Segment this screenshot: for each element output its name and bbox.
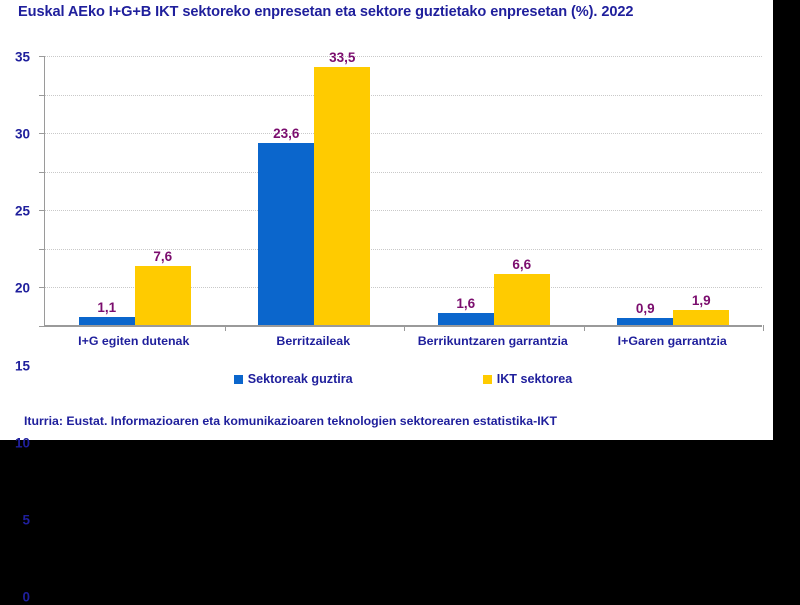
bar-value-label-0-1: 23,6 — [273, 126, 299, 141]
bar-value-label-1-0: 7,6 — [153, 249, 172, 264]
x-axis-category-label-0: I+G egiten dutenak — [44, 334, 224, 348]
x-axis-tick-2 — [584, 325, 585, 331]
bar-0-2[interactable]: 1,6 — [438, 313, 494, 325]
source-note: Iturria: Eustat. Informazioaren eta komu… — [24, 414, 557, 428]
y-axis-tick-15: 15 — [39, 210, 45, 211]
x-axis-tick-1 — [404, 325, 405, 331]
gridline-30 — [45, 95, 762, 96]
chart-legend: Sektoreak guztira IKT sektorea — [44, 372, 762, 386]
chart-title: Euskal AEko I+G+B IKT sektoreko enpreset… — [18, 4, 768, 20]
y-axis-tick-35: 35 — [39, 56, 45, 57]
x-axis-category-label-1: Berritzaileak — [224, 334, 404, 348]
y-axis-label-15: 15 — [15, 358, 30, 373]
legend-swatch-icon-series-0 — [234, 375, 243, 384]
y-axis-label-10: 10 — [15, 435, 30, 450]
y-axis-tick-25: 25 — [39, 133, 45, 134]
y-axis-tick-30: 30 — [39, 95, 45, 96]
y-axis-label-20: 20 — [15, 281, 30, 296]
bar-value-label-1-3: 1,9 — [692, 293, 711, 308]
bar-value-label-1-1: 33,5 — [329, 50, 355, 65]
y-axis-label-30: 30 — [15, 127, 30, 142]
y-axis-label-25: 25 — [15, 204, 30, 219]
x-axis-category-label-2: Berrikuntzaren garrantzia — [403, 334, 583, 348]
bar-value-label-0-3: 0,9 — [636, 301, 655, 316]
bar-1-2[interactable]: 6,6 — [494, 274, 550, 325]
bar-0-1[interactable]: 23,6 — [258, 143, 314, 325]
y-axis-tick-0: 0 — [39, 326, 45, 327]
y-axis-label-35: 35 — [15, 50, 30, 65]
plot-area: 051015202530351,17,623,633,51,66,60,91,9 — [44, 56, 762, 326]
y-axis-label-0: 0 — [22, 590, 30, 605]
bar-1-0[interactable]: 7,6 — [135, 266, 191, 325]
y-axis-tick-5: 5 — [39, 287, 45, 288]
gridline-25 — [45, 133, 762, 134]
chart-figure: Euskal AEko I+G+B IKT sektoreko enpreset… — [0, 0, 773, 440]
bar-value-label-0-0: 1,1 — [97, 300, 116, 315]
gridline-20 — [45, 172, 762, 173]
bar-0-0[interactable]: 1,1 — [79, 317, 135, 325]
bar-value-label-0-2: 1,6 — [456, 296, 475, 311]
bar-value-label-1-2: 6,6 — [512, 257, 531, 272]
gridline-35 — [45, 56, 762, 57]
x-axis-tick-0 — [225, 325, 226, 331]
gridline-15 — [45, 210, 762, 211]
legend-label-series-1: IKT sektorea — [497, 372, 573, 386]
y-axis-tick-10: 10 — [39, 249, 45, 250]
x-axis-tick-3 — [763, 325, 764, 331]
legend-item-ikt-sektorea[interactable]: IKT sektorea — [483, 372, 573, 386]
legend-swatch-icon-series-1 — [483, 375, 492, 384]
y-axis-tick-20: 20 — [39, 172, 45, 173]
x-axis-category-label-3: I+Garen garrantzia — [583, 334, 763, 348]
legend-label-series-0: Sektoreak guztira — [248, 372, 353, 386]
bar-1-1[interactable]: 33,5 — [314, 67, 370, 325]
legend-item-sektoreak-guztira[interactable]: Sektoreak guztira — [234, 372, 353, 386]
y-axis-label-5: 5 — [22, 512, 30, 527]
bar-0-3[interactable]: 0,9 — [617, 318, 673, 325]
bar-1-3[interactable]: 1,9 — [673, 310, 729, 325]
